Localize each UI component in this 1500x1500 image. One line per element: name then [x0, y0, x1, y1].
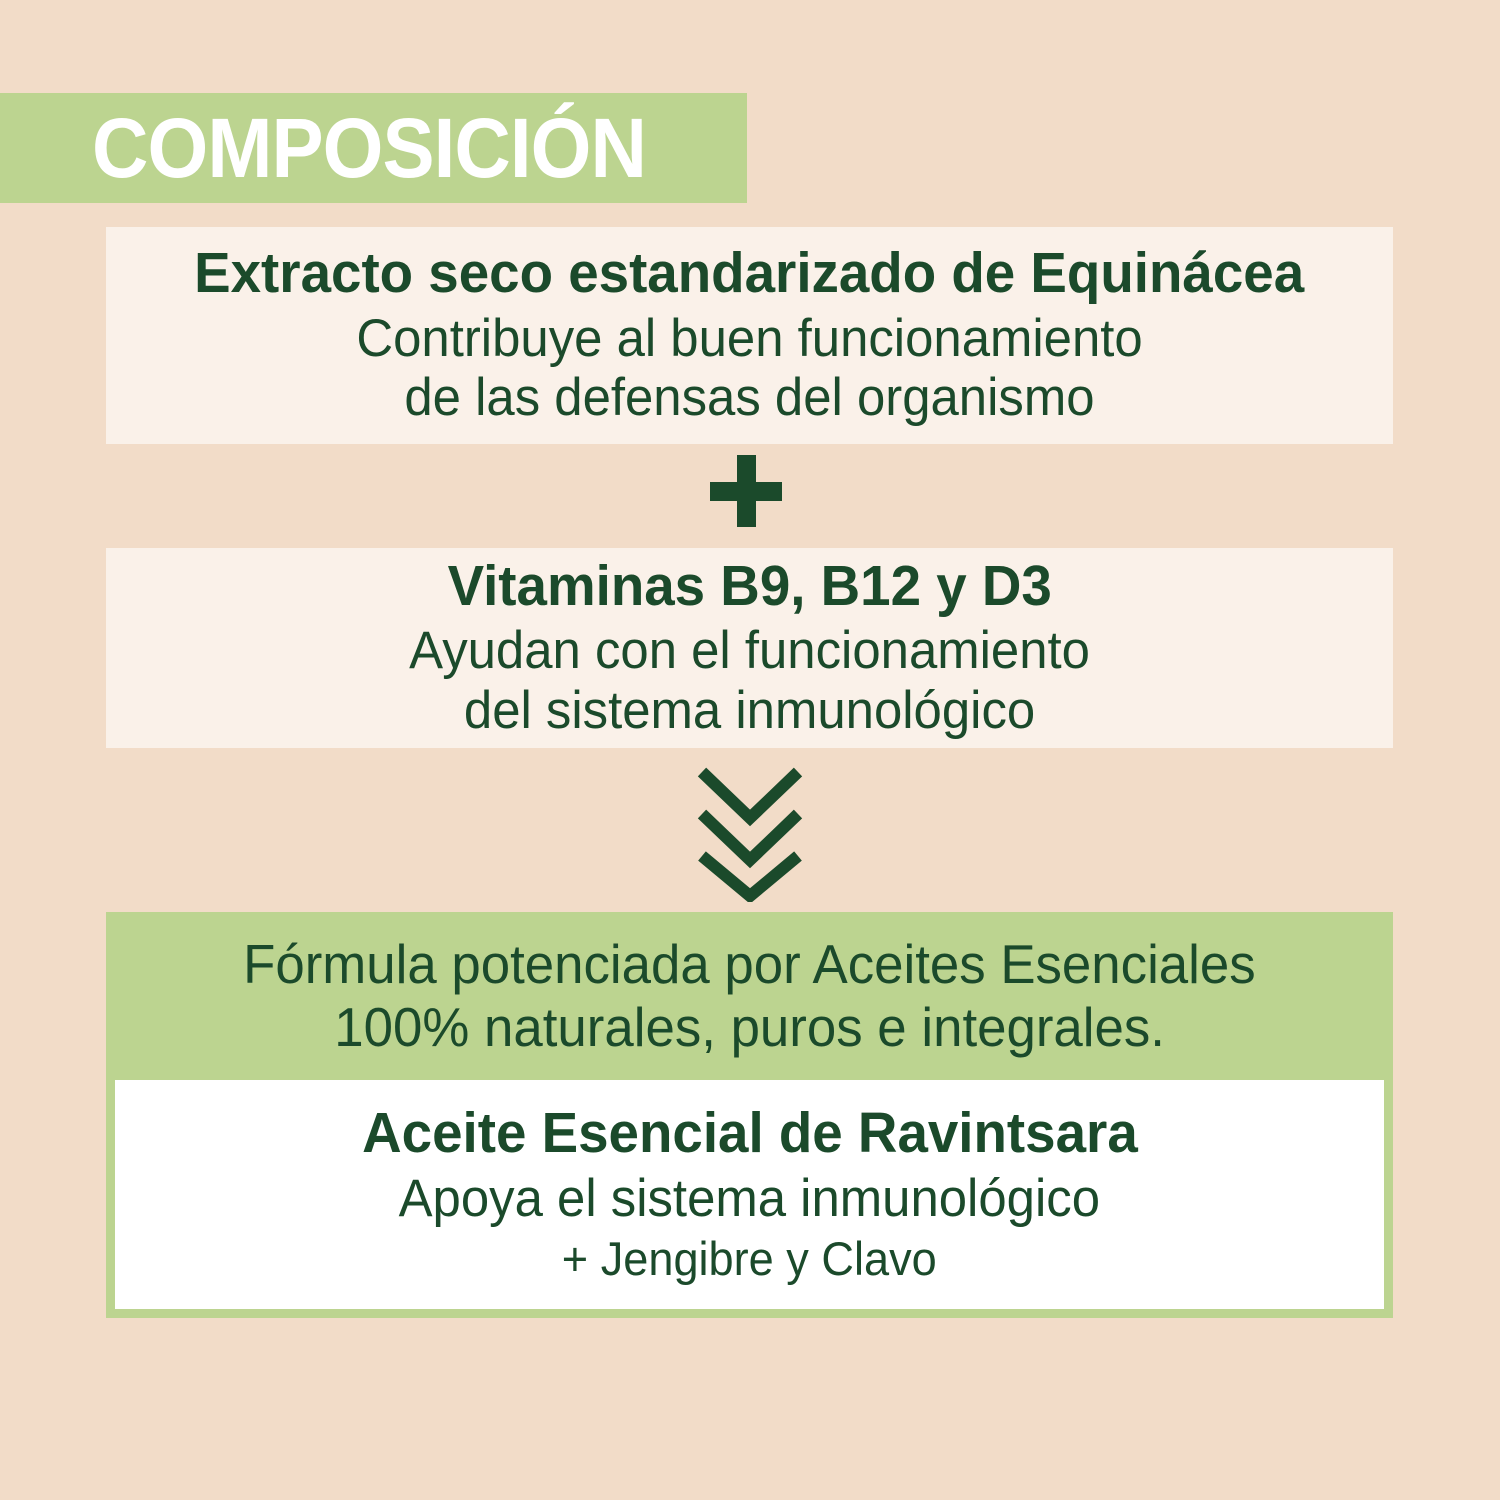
chevron-down-icon-svg — [696, 766, 804, 902]
chevron-down-icon — [696, 766, 804, 902]
formula-banner-line-1: Fórmula potenciada por Aceites Esenciale… — [243, 933, 1256, 996]
ingredient-benefit-line-2: de las defensas del organismo — [404, 368, 1094, 427]
formula-banner: Fórmula potenciada por Aceites Esenciale… — [106, 912, 1393, 1080]
chevron-down-icon-1 — [702, 772, 798, 818]
ingredient-heading: Vitaminas B9, B12 y D3 — [447, 556, 1051, 618]
ingredient-benefit-line-1: Ayudan con el funcionamiento — [409, 621, 1090, 680]
essential-oil-benefit: Apoya el sistema inmunológico — [399, 1169, 1100, 1228]
ingredient-benefit-line-1: Contribuye al buen funcionamiento — [356, 309, 1142, 368]
ingredient-heading: Extracto seco estandarizado de Equinácea — [194, 243, 1304, 305]
page-title: COMPOSICIÓN — [92, 106, 646, 190]
ingredient-card-vitamins: Vitaminas B9, B12 y D3 Ayudan con el fun… — [106, 548, 1393, 748]
essential-oil-heading: Aceite Esencial de Ravintsara — [362, 1103, 1138, 1165]
ingredient-benefit-line-2: del sistema inmunológico — [464, 681, 1035, 740]
essential-oil-extras: + Jengibre y Clavo — [562, 1232, 937, 1286]
essential-oil-panel: Aceite Esencial de Ravintsara Apoya el s… — [115, 1080, 1384, 1309]
formula-card: Fórmula potenciada por Aceites Esenciale… — [106, 912, 1393, 1318]
composition-title-banner: COMPOSICIÓN — [0, 93, 747, 203]
ingredient-card-echinacea: Extracto seco estandarizado de Equinácea… — [106, 227, 1393, 444]
plus-icon — [710, 455, 782, 527]
plus-icon-vertical-bar — [737, 455, 756, 527]
formula-banner-line-2: 100% naturales, puros e integrales. — [334, 996, 1165, 1059]
